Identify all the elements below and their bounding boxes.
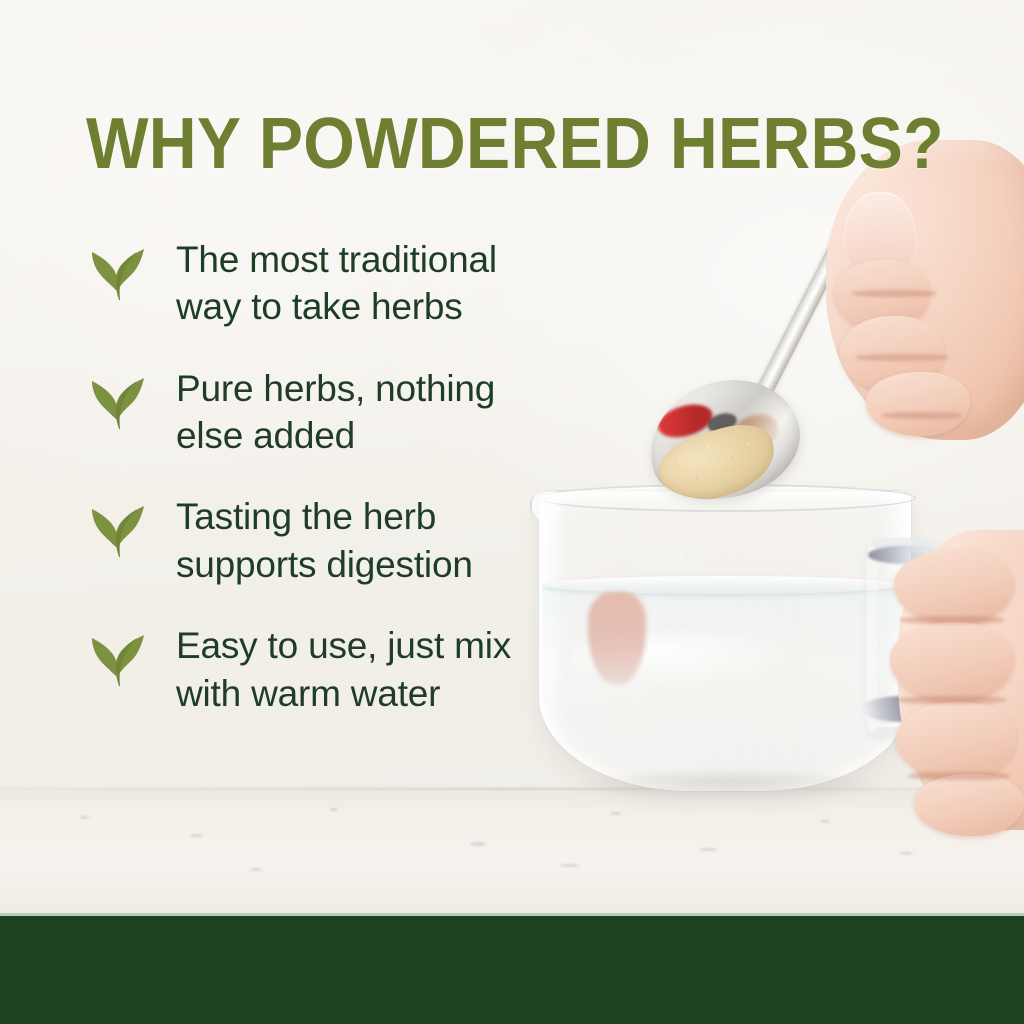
list-item: Tasting the herb supports digestion: [88, 493, 558, 588]
list-item: Pure herbs, nothing else added: [88, 365, 558, 460]
list-item-label: Easy to use, just mix with warm water: [176, 622, 558, 717]
leaf-sprout-icon: [88, 369, 150, 431]
leaf-sprout-icon: [88, 497, 150, 559]
lower-ring-finger: [896, 702, 1016, 780]
poster-canvas: WHY POWDERED HERBS? The most traditional…: [0, 0, 1024, 1024]
leaf-sprout-icon: [88, 626, 150, 688]
leaf-sprout-icon: [88, 240, 150, 302]
list-item: The most traditional way to take herbs: [88, 236, 558, 331]
lower-index-finger: [894, 550, 1014, 624]
ring-finger: [866, 372, 970, 436]
mug-base-shadow: [570, 772, 890, 798]
glass-mug: [530, 480, 950, 810]
list-item-label: Tasting the herb supports digestion: [176, 493, 558, 588]
lower-middle-finger: [890, 622, 1014, 702]
bottom-green-band: [0, 916, 1024, 1024]
list-item-label: The most traditional way to take herbs: [176, 236, 558, 331]
list-item: Easy to use, just mix with warm water: [88, 622, 558, 717]
benefits-list: The most traditional way to take herbs P…: [88, 236, 558, 751]
page-title: WHY POWDERED HERBS?: [86, 108, 944, 180]
list-item-label: Pure herbs, nothing else added: [176, 365, 558, 460]
lower-pinky-finger: [914, 774, 1024, 836]
water-bubbles: [560, 540, 880, 582]
